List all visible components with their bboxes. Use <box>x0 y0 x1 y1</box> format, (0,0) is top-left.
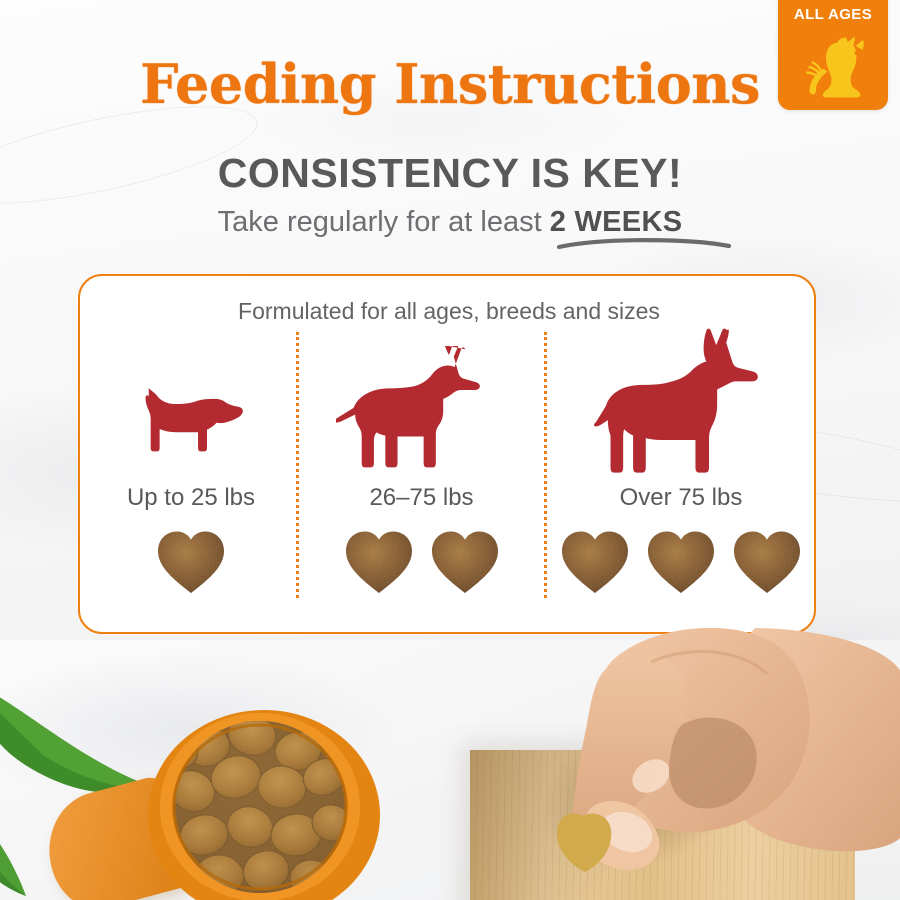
small-dog-silhouette <box>86 328 296 478</box>
size-column-large: Over 75 lbs <box>547 328 815 628</box>
underline-swoosh-icon <box>556 236 732 250</box>
infographic-root: Feeding Instructions ALL AGES CONSISTENC… <box>0 0 900 900</box>
large-dog-silhouette <box>547 328 815 478</box>
medium-dog-silhouette <box>299 328 544 478</box>
large-dog-icon <box>590 328 772 478</box>
all-ages-badge: ALL AGES <box>778 0 888 110</box>
kibble-heart-icon <box>341 524 417 596</box>
kibble-heart-icon <box>729 524 805 596</box>
medium-dog-icon <box>336 346 508 478</box>
size-label-medium: 26–75 lbs <box>299 484 544 512</box>
page-tagline: Take regularly for at least 2 WEEKS <box>0 206 900 239</box>
kibble-row-small <box>86 524 296 596</box>
kibble-heart-icon <box>557 524 633 596</box>
kibble-heart-icon <box>643 524 719 596</box>
kibble-heart-icon <box>153 524 229 596</box>
page-title: Feeding Instructions <box>0 52 900 116</box>
kibble-heart-icon <box>427 524 503 596</box>
page-subtitle: CONSISTENCY IS KEY! <box>0 150 900 197</box>
small-dog-icon <box>127 380 255 478</box>
card-note: Formulated for all ages, breeds and size… <box>80 298 818 325</box>
kibble-row-large <box>547 524 815 596</box>
kibble-container <box>140 695 380 900</box>
size-column-medium: 26–75 lbs <box>299 328 544 628</box>
kibble-row-medium <box>299 524 544 596</box>
sitting-dog-icon <box>794 28 872 100</box>
hand-holding-kibble <box>455 628 900 900</box>
all-ages-badge-label: ALL AGES <box>778 6 888 23</box>
tagline-duration: 2 WEEKS <box>550 206 683 238</box>
size-label-small: Up to 25 lbs <box>86 484 296 512</box>
size-label-large: Over 75 lbs <box>547 484 815 512</box>
tagline-prefix: Take regularly for at least <box>218 206 550 238</box>
feeding-chart-card: Formulated for all ages, breeds and size… <box>78 274 816 634</box>
size-column-small: Up to 25 lbs <box>86 328 296 628</box>
